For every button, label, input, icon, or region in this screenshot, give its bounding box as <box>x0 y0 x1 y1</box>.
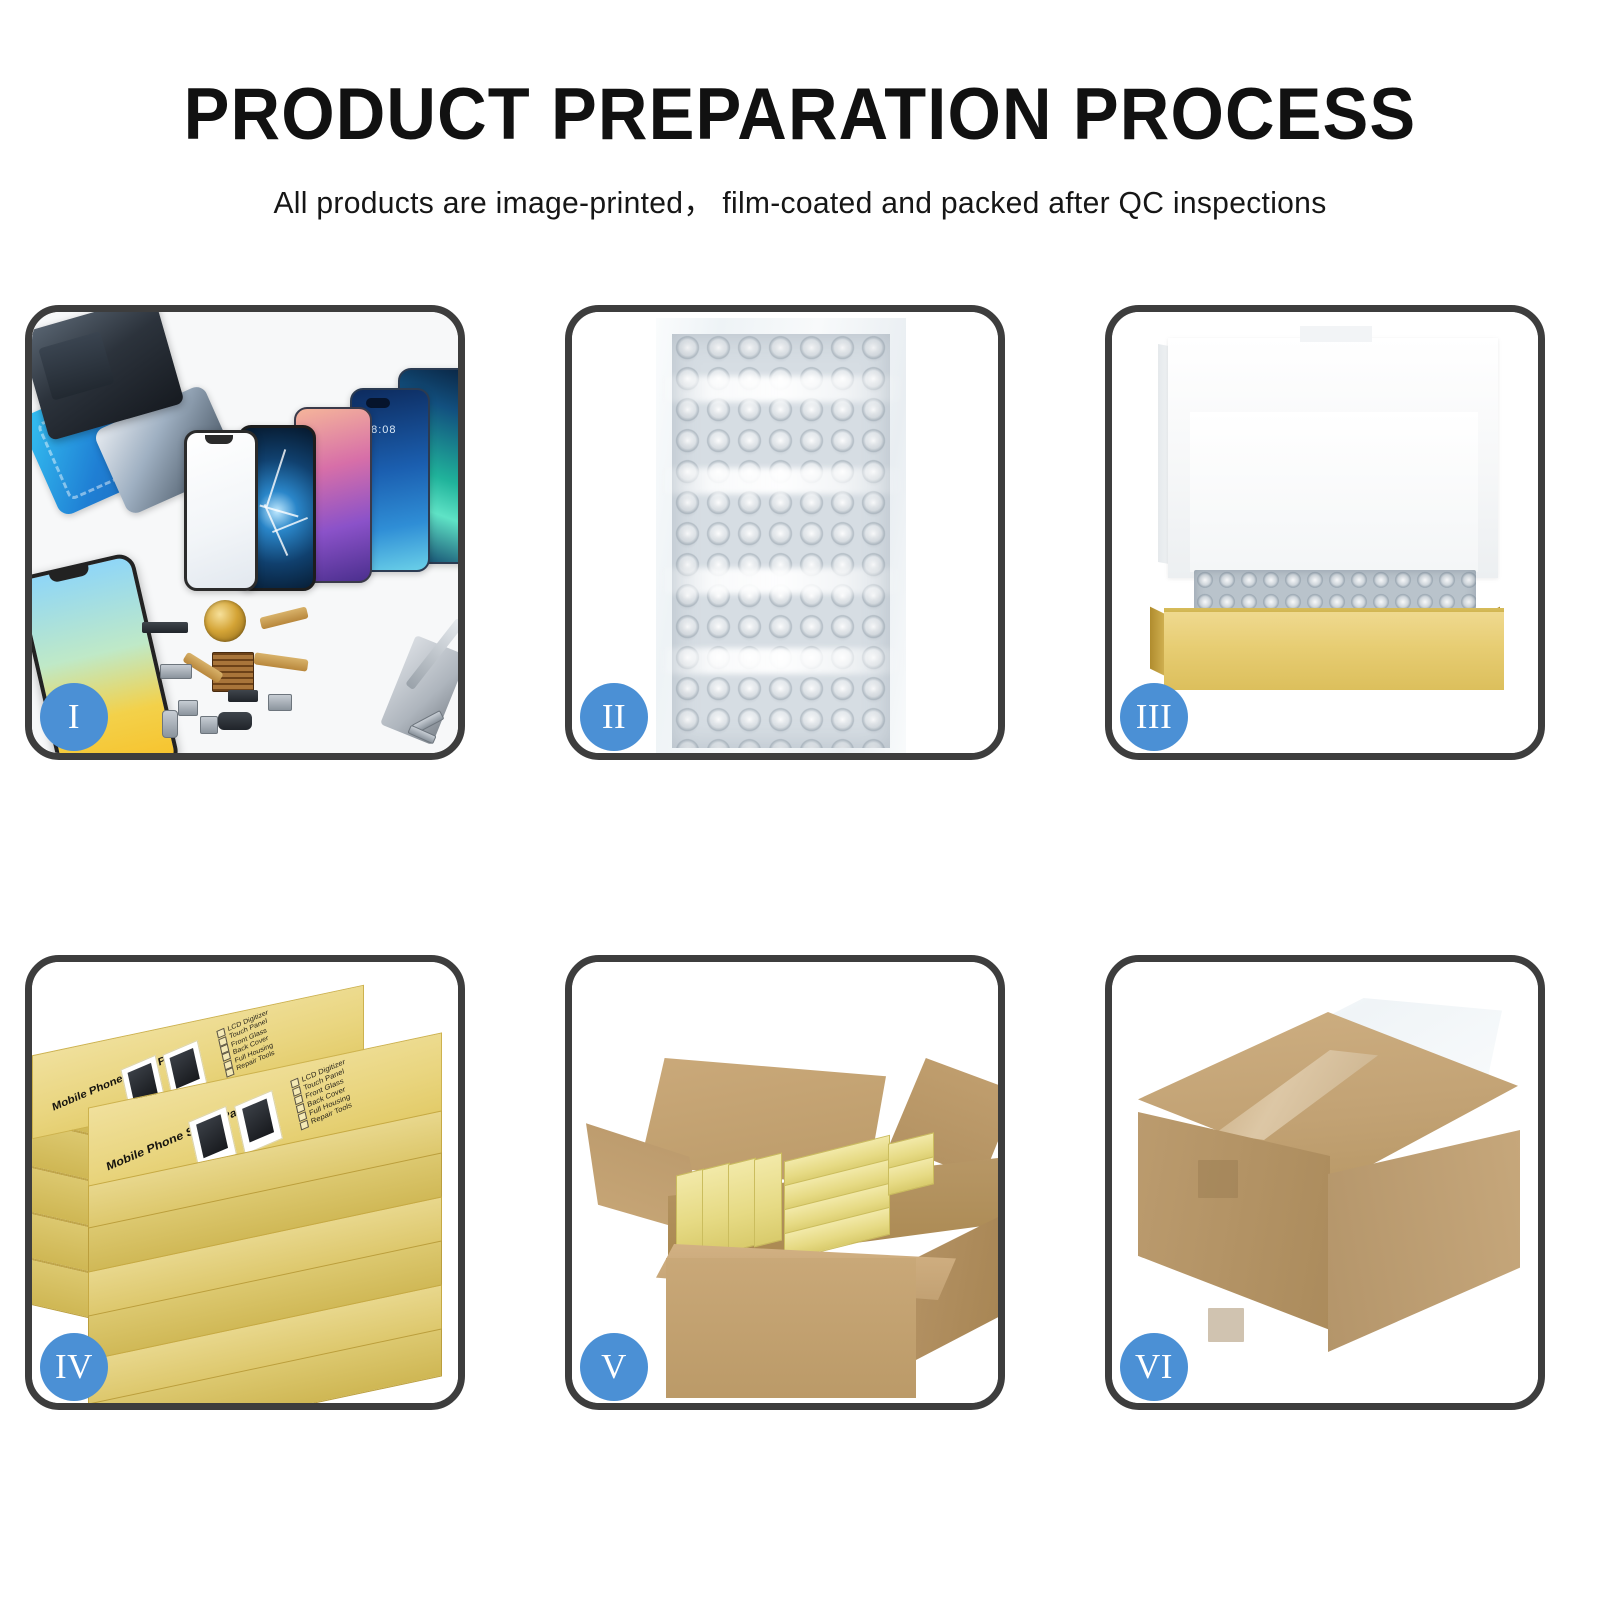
step-badge-6: VI <box>1120 1333 1188 1401</box>
process-step-panel-1[interactable]: 08:08 <box>25 305 465 760</box>
process-step-panel-3[interactable]: III <box>1105 305 1545 760</box>
open-carton-scene <box>572 962 998 1403</box>
film-sheen <box>656 376 906 402</box>
mailer-inner-panel <box>1190 412 1478 572</box>
step-2-image <box>572 312 998 753</box>
step-1-image: 08:08 <box>32 312 458 753</box>
sealed-carton-scene <box>1112 962 1538 1403</box>
process-step-panel-2[interactable]: II <box>565 305 1005 760</box>
step-badge-1: I <box>40 683 108 751</box>
crack-line <box>259 505 298 518</box>
page-subtitle: All products are image-printed， film-coa… <box>24 177 1576 222</box>
mailer-lid-tab <box>1300 326 1372 342</box>
connector-part-3 <box>268 694 292 711</box>
crack-line <box>266 449 286 507</box>
speaker-module <box>218 712 252 730</box>
step-badge-4: IV <box>40 1333 108 1401</box>
page-title: PRODUCT PREPARATION PROCESS <box>48 78 1552 151</box>
connector-part-2 <box>178 700 198 716</box>
process-step-grid: 08:08 <box>25 305 1575 1465</box>
retail-box-checklist-front: LCD Digitizer Touch Panel Front Glass Ba… <box>290 1057 355 1130</box>
sim-tray <box>162 710 178 738</box>
step-4-image: Mobile Phone Spare Parts LCD Digitizer T… <box>32 962 458 1403</box>
step-6-image <box>1112 962 1538 1403</box>
packed-retail-box <box>702 1163 730 1256</box>
bubble-wrap-scene <box>572 312 998 753</box>
earpiece-speaker-mesh <box>142 622 188 633</box>
film-sheen <box>656 468 906 494</box>
process-step-panel-4[interactable]: Mobile Phone Spare Parts LCD Digitizer T… <box>25 955 465 1410</box>
bubble-wrap-sleeve <box>656 318 906 753</box>
film-sheen <box>656 648 906 674</box>
step-badge-3: III <box>1120 683 1188 751</box>
phone-parts-scene: 08:08 <box>32 312 458 753</box>
front-glass-panel <box>184 430 258 591</box>
vibrator-motor <box>200 716 218 734</box>
mailer-front-wall <box>1164 612 1504 690</box>
packed-retail-box <box>728 1158 756 1253</box>
checkbox-icon <box>299 1119 308 1130</box>
film-sheen <box>656 568 906 594</box>
step-3-image <box>1112 312 1538 753</box>
wireless-charging-coil <box>204 600 246 642</box>
retail-box-checklist-back: LCD Digitizer Touch Panel Front Glass Ba… <box>216 1009 278 1078</box>
carton-label-patch <box>1208 1308 1244 1342</box>
header: PRODUCT PREPARATION PROCESS All products… <box>0 0 1600 222</box>
carton-front-wall <box>666 1258 916 1398</box>
connector-part-1 <box>160 664 192 679</box>
flex-cable-1 <box>259 606 308 629</box>
stacked-boxes-scene: Mobile Phone Spare Parts LCD Digitizer T… <box>32 962 458 1403</box>
camera-module <box>228 690 258 702</box>
process-step-panel-5[interactable]: V <box>565 955 1005 1410</box>
carton-label-patch <box>1198 1160 1238 1198</box>
crack-line <box>272 517 308 533</box>
step-badge-2: II <box>580 683 648 751</box>
packed-retail-box <box>754 1153 782 1248</box>
flex-cable-2 <box>253 652 308 671</box>
step-5-image <box>572 962 998 1403</box>
process-step-panel-6[interactable]: VI <box>1105 955 1545 1410</box>
open-mailer-scene <box>1112 312 1538 753</box>
phone-notch-icon <box>366 398 390 408</box>
step-badge-5: V <box>580 1333 648 1401</box>
